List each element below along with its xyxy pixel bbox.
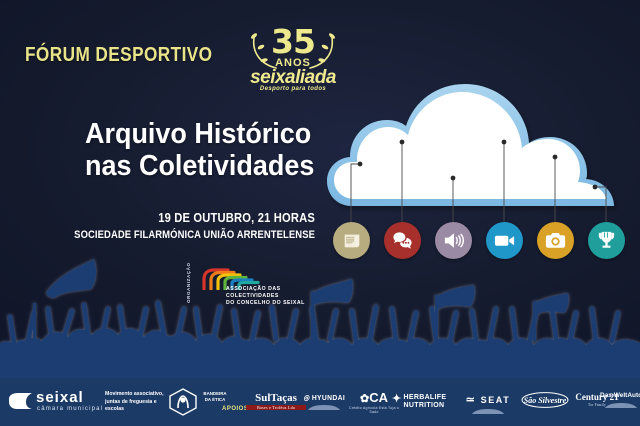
anniversary-number: 35 — [238, 25, 348, 58]
page-kicker: FÓRUM DESPORTIVO — [25, 44, 212, 67]
car-silhouette-icon — [604, 402, 638, 409]
page-title: Arquivo Histórico nas Coletividades — [85, 118, 331, 182]
bandeira-etica-label: BANDEIRA DA ÉTICA — [198, 391, 232, 402]
cloud-connector-lines — [325, 80, 640, 225]
organizer-name-line2: DO CONCELHO DO SEIXAL — [226, 300, 331, 307]
page-title-line2: nas Coletividades — [85, 150, 331, 182]
sponsor-sao-silvestre[interactable]: São Silvestre — [516, 392, 574, 408]
seixal-logo-icon — [8, 391, 34, 411]
organizer-name-line1: ASSOCIAÇÃO DAS COLECTIVIDADES — [226, 286, 331, 300]
sponsor-sultacas[interactable]: SulTaças Bases e Troféus Lda — [246, 392, 306, 410]
organizer-name: ASSOCIAÇÃO DAS COLECTIVIDADES DO CONCELH… — [226, 286, 331, 307]
cloud-infographic — [325, 80, 640, 275]
movimento-associativo-text: Movimento associativo, juntas de fregues… — [105, 391, 165, 414]
trophy-icon[interactable] — [588, 222, 625, 259]
car-silhouette-icon — [471, 408, 505, 415]
seixal-subtitle: câmara municipal — [37, 406, 103, 412]
sponsor-herbalife[interactable]: ✦ HERBALIFE NUTRITION — [392, 394, 464, 410]
photo-camera-icon[interactable] — [537, 222, 574, 259]
event-venue: SOCIEDADE FILARMÓNICA UNIÃO ARRENTELENSE — [44, 229, 315, 241]
event-details: 19 DE OUTUBRO, 21 HORAS SOCIEDADE FILARM… — [0, 210, 315, 241]
sponsor-seat[interactable]: ≃ SEAT — [460, 393, 516, 415]
sponsor-hyundai[interactable]: ◎ HYUNDAI — [300, 393, 348, 411]
speaker-icon[interactable] — [435, 222, 472, 259]
sponsor-bar: seixal câmara municipal Movimento associ… — [0, 378, 640, 426]
seixal-wordmark: seixal — [36, 389, 84, 406]
car-silhouette-icon — [307, 404, 341, 411]
speech-bubbles-icon[interactable] — [384, 222, 421, 259]
event-date: 19 DE OUTUBRO, 21 HORAS — [44, 210, 315, 225]
sponsor-das-weltauto[interactable]: Das WeltAuto. — [600, 392, 640, 409]
poster-canvas: FÓRUM DESPORTIVO — [0, 0, 640, 426]
video-camera-icon[interactable] — [486, 222, 523, 259]
documents-icon[interactable] — [333, 222, 370, 259]
bandeira-etica-icon — [168, 388, 198, 416]
organizer-label: ORGANIZAÇÃO — [186, 270, 191, 303]
page-title-line1: Arquivo Histórico — [85, 118, 331, 150]
organizer-block: ORGANIZAÇÃO ASSOCIAÇÃO DAS COLECTIVIDADE… — [186, 268, 331, 306]
